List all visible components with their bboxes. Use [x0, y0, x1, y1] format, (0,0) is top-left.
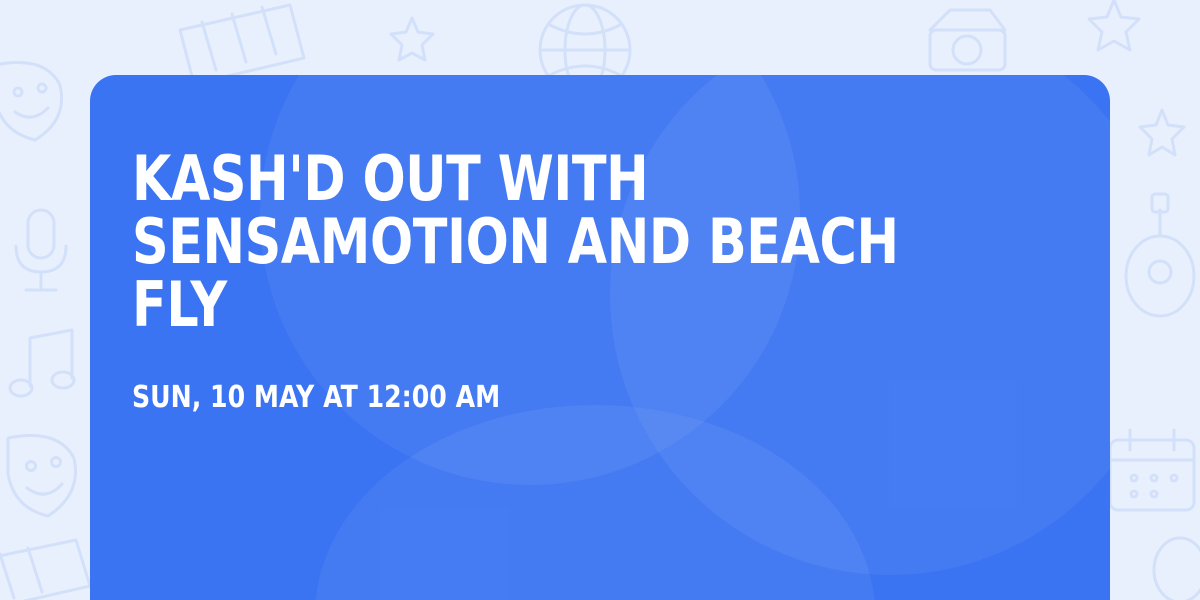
theater-masks-icon — [8, 436, 76, 517]
balloon-icon — [1154, 538, 1200, 600]
ticket-icon — [0, 540, 90, 600]
calendar-icon — [1110, 430, 1194, 510]
star-icon — [1089, 0, 1139, 50]
guitar-icon — [1126, 194, 1194, 316]
music-note-icon — [10, 330, 74, 396]
star-icon — [391, 18, 433, 60]
camera-icon — [930, 10, 1005, 70]
event-banner: Kash'd Out with Sensamotion and Beach Fl… — [0, 0, 1200, 600]
microphone-icon — [16, 210, 66, 290]
theater-masks-icon — [0, 63, 62, 141]
star-icon — [1140, 110, 1184, 155]
card-content: Kash'd Out with Sensamotion and Beach Fl… — [132, 147, 1070, 413]
event-card[interactable]: Kash'd Out with Sensamotion and Beach Fl… — [90, 75, 1110, 600]
ticket-icon — [180, 5, 304, 84]
event-datetime: Sun, 10 May at 12:00 AM — [132, 383, 920, 413]
event-title: Kash'd Out with Sensamotion and Beach Fl… — [132, 147, 901, 337]
